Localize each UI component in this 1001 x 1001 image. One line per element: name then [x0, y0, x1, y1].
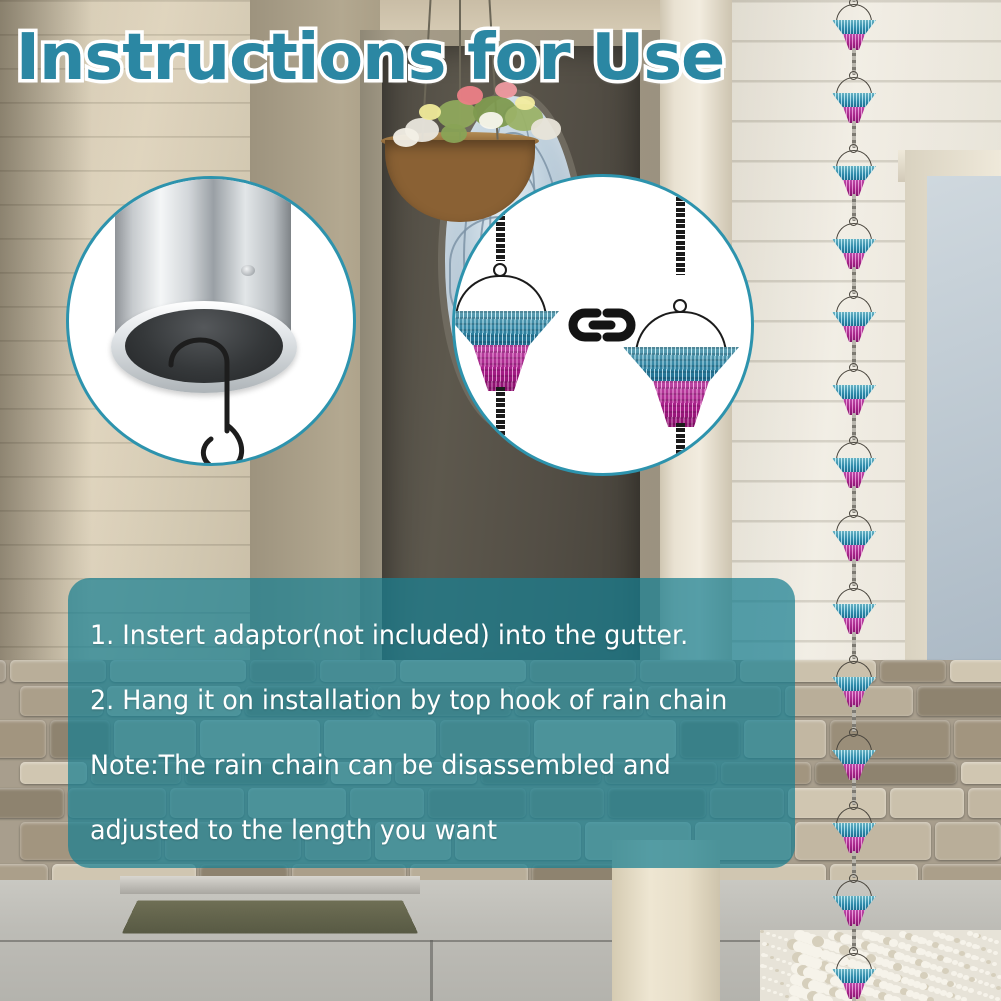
gravel-pebble — [788, 962, 792, 965]
gravel-pebble — [771, 945, 775, 948]
gravel-pebble — [977, 991, 982, 995]
rain-chain-bowl — [832, 166, 876, 181]
door-threshold — [120, 876, 420, 894]
rain-chain-cup — [824, 203, 884, 276]
gravel-pebble — [761, 987, 765, 990]
stone-veneer-block — [917, 686, 1001, 716]
gravel-pebble — [772, 934, 776, 937]
gravel-pebble — [927, 997, 934, 1001]
gravel-pebble — [996, 986, 1001, 990]
s-hook-icon — [157, 305, 277, 466]
rain-chain-cup — [824, 495, 884, 568]
instruction-step-1: 1. Instert adaptor(not included) into th… — [90, 622, 730, 649]
rain-chain-bowl — [832, 385, 876, 400]
gravel-pebble — [997, 975, 1001, 979]
gravel-pebble — [993, 951, 998, 955]
gravel-pebble — [987, 949, 992, 953]
gravel-pebble — [972, 944, 978, 949]
gravel-pebble — [971, 955, 977, 960]
rain-chain-bowl — [832, 896, 876, 911]
gravel-pebble — [889, 939, 898, 947]
gravel-pebble — [760, 964, 765, 968]
gravel-pebble — [920, 972, 928, 979]
stone-veneer-block — [880, 660, 946, 682]
gravel-pebble — [983, 993, 988, 997]
gravel-pebble — [986, 960, 991, 964]
gravel-pebble — [890, 996, 899, 1001]
gravel-pebble — [946, 992, 953, 998]
gravel-pebble — [775, 969, 779, 972]
rain-chain-product — [824, 0, 884, 984]
mounting-screw-icon — [241, 265, 255, 276]
gravel-pebble — [961, 997, 967, 1001]
rain-chain-bowl — [832, 458, 876, 473]
gravel-pebble — [992, 962, 997, 966]
stone-veneer-block — [0, 720, 46, 758]
gravel-pebble — [761, 953, 766, 957]
gravel-pebble — [766, 932, 770, 935]
rain-chain-bowl — [832, 20, 876, 35]
stone-veneer-block — [935, 822, 1001, 860]
gravel-pebble — [769, 967, 773, 970]
gravel-pebble — [979, 969, 984, 973]
gravel-pebble — [812, 936, 824, 947]
rain-chain-cup — [824, 422, 884, 495]
gravel-pebble — [919, 983, 927, 990]
rain-chain-cup — [824, 787, 884, 860]
rain-chain-bowl — [832, 677, 876, 692]
gravel-pebble — [991, 973, 996, 977]
rain-chain-cup — [824, 933, 884, 1001]
rain-chain-bowl — [832, 823, 876, 838]
gravel-pebble — [810, 958, 822, 969]
gravel-pebble — [776, 958, 780, 961]
gravel-pebble — [785, 995, 789, 998]
stone-veneer-block — [954, 720, 1001, 758]
gravel-pebble — [781, 971, 785, 974]
rain-chain-cup — [824, 349, 884, 422]
gravel-pebble — [995, 997, 1000, 1001]
gravel-pebble — [768, 978, 772, 981]
gravel-pebble — [783, 949, 787, 952]
rain-chain-bowl — [832, 750, 876, 765]
gravel-pebble — [990, 984, 995, 988]
gravel-pebble — [984, 982, 989, 986]
basket-foliage — [441, 124, 467, 143]
rain-chain-bowl — [832, 969, 876, 984]
gravel-pebble — [894, 952, 903, 960]
gravel-pebble — [944, 946, 951, 952]
callout-right-connect-cups — [452, 174, 754, 476]
chain-link-icon — [567, 305, 637, 345]
gravel-pebble — [784, 938, 788, 941]
window-trim — [905, 150, 1001, 690]
rain-chain-bowl — [832, 239, 876, 254]
stone-veneer-block — [890, 788, 964, 818]
rain-chain-bowl — [832, 312, 876, 327]
gravel-pebble — [916, 948, 924, 955]
gravel-pebble — [918, 994, 926, 1001]
gravel-pebble — [945, 935, 952, 941]
instruction-image: Instructions for Use — [0, 0, 1001, 1001]
stone-veneer-block — [950, 660, 1001, 682]
gravel-pebble — [969, 977, 975, 982]
instruction-note-line-1: Note:The rain chain can be disassembled … — [90, 752, 730, 779]
rain-chain-bowl — [832, 93, 876, 108]
gravel-pebble — [773, 991, 777, 994]
gravel-pebble — [779, 993, 783, 996]
rain-chain-cup — [824, 641, 884, 714]
callout-left-gutter-adaptor — [66, 176, 356, 466]
gravel-pebble — [989, 995, 994, 999]
gravel-pebble — [762, 942, 767, 946]
rain-chain-bowl — [832, 604, 876, 619]
gravel-pebble — [980, 958, 985, 962]
gravel-pebble — [968, 988, 974, 993]
stone-veneer-block — [0, 788, 64, 818]
stone-veneer-block — [0, 660, 6, 682]
gravel-pebble — [762, 976, 766, 979]
instruction-step-2: 2. Hang it on installation by top hook o… — [90, 687, 730, 714]
gravel-pebble — [780, 982, 784, 985]
gravel-pebble — [947, 981, 954, 987]
stone-veneer-block — [968, 788, 1001, 818]
gravel-pebble — [994, 940, 999, 944]
gravel-pebble — [985, 971, 990, 975]
gravel-pebble — [777, 947, 781, 950]
gravel-pebble — [892, 974, 901, 982]
gravel-pebble — [921, 961, 929, 968]
basket-foliage — [393, 128, 419, 147]
gravel-pebble — [786, 984, 790, 987]
gravel-pebble — [778, 936, 782, 939]
gravel-pebble — [811, 947, 823, 958]
doormat — [122, 900, 419, 933]
rain-chain-cup — [824, 276, 884, 349]
gravel-pebble — [917, 937, 925, 944]
gravel-pebble — [774, 980, 778, 983]
page-title: Instructions for Use — [0, 26, 747, 90]
gravel-pebble — [770, 956, 774, 959]
gravel-pebble — [782, 960, 786, 963]
instruction-note-line-2: adjusted to the length you want — [90, 817, 730, 844]
gravel-pebble — [943, 957, 950, 963]
rain-chain-bowl — [832, 531, 876, 546]
gravel-pebble — [760, 930, 764, 933]
gravel-pebble — [973, 933, 979, 938]
stone-veneer-block — [961, 762, 1001, 784]
basket-foliage — [531, 118, 561, 140]
rain-chain-cup — [824, 714, 884, 787]
gravel-pebble — [767, 989, 771, 992]
gravel-pebble — [981, 947, 986, 951]
gravel-pebble — [988, 938, 993, 942]
gravel-pebble — [982, 936, 987, 940]
gravel-pebble — [970, 966, 976, 971]
basket-foliage — [419, 104, 441, 120]
rain-chain-cup — [824, 568, 884, 641]
rain-chain-cup — [824, 860, 884, 933]
gravel-pebble — [942, 968, 949, 974]
gravel-pebble — [978, 980, 983, 984]
rain-chain-cup — [824, 130, 884, 203]
gravel-pebble — [891, 985, 900, 993]
instructions-panel: 1. Instert adaptor(not included) into th… — [68, 578, 795, 868]
gravel-pebble — [893, 963, 902, 971]
rain-chain-cup — [824, 57, 884, 130]
gravel-pebble — [787, 973, 791, 976]
